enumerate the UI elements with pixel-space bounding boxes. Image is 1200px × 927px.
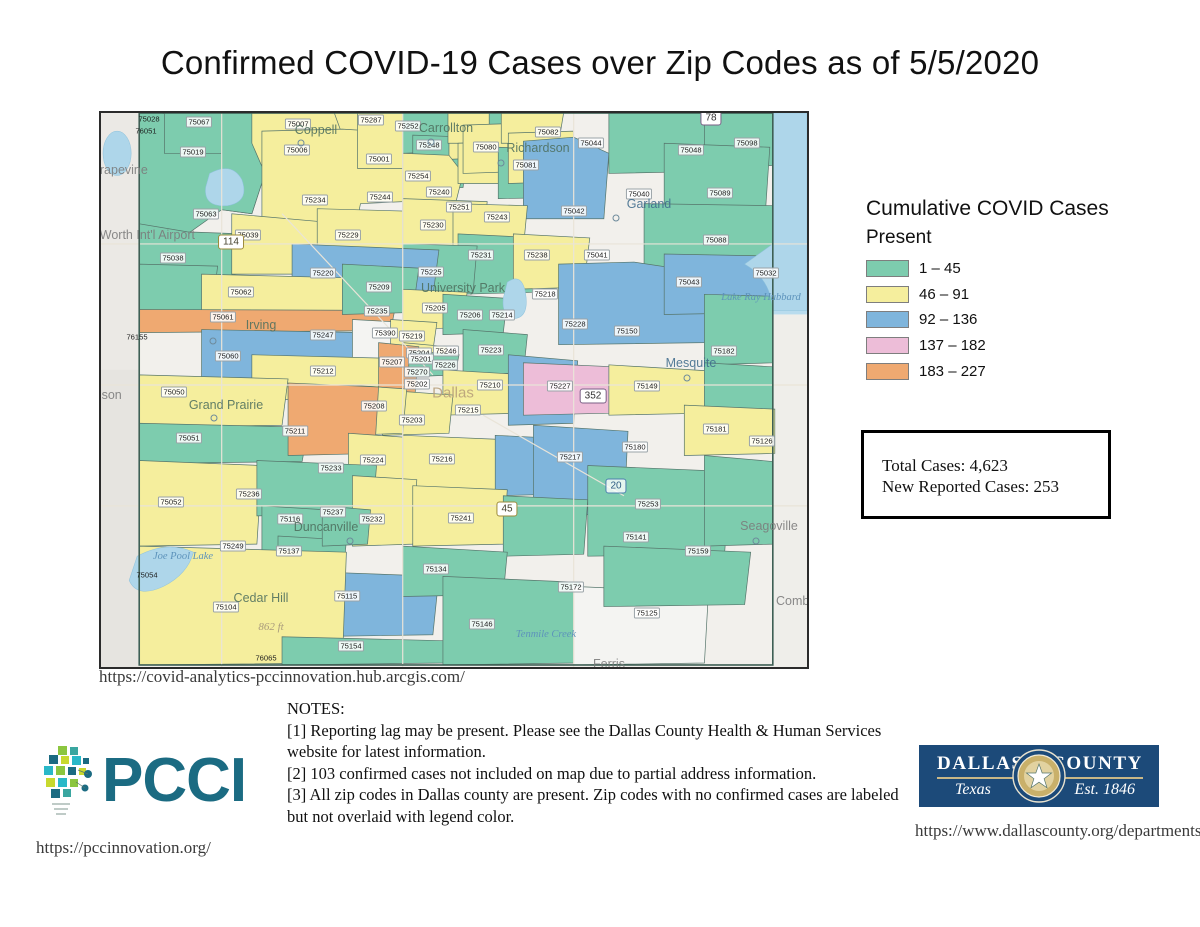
zip-code-label[interactable]: 75098	[734, 138, 760, 149]
zip-code-label[interactable]: 75032	[753, 268, 779, 279]
legend-range-label: 137 – 182	[919, 337, 986, 354]
zip-code-label[interactable]: 75208	[361, 401, 387, 412]
city-label: Duncanville	[294, 520, 359, 534]
new-reported-cases: New Reported Cases: 253	[882, 476, 1108, 497]
zip-code-label[interactable]: 75216	[429, 454, 455, 465]
zip-code-label[interactable]: 75006	[284, 145, 310, 156]
city-point-marker	[298, 140, 305, 147]
zip-code-label[interactable]: 75236	[236, 489, 262, 500]
highway-shield: 20	[605, 479, 626, 494]
city-point-marker	[210, 338, 217, 345]
zip-code-label[interactable]: 75054	[135, 571, 159, 580]
page-title: Confirmed COVID-19 Cases over Zip Codes …	[0, 44, 1200, 82]
zip-code-label[interactable]: 75134	[423, 564, 449, 575]
city-label: Richardson	[506, 141, 569, 155]
zip-code-label[interactable]: 75212	[310, 366, 336, 377]
legend-subtitle: Present	[866, 225, 1166, 251]
zip-code-label[interactable]: 75051	[176, 433, 202, 444]
notes-block: NOTES: [1] Reporting lag may be present.…	[287, 698, 902, 827]
city-label: University Park	[421, 281, 505, 295]
zip-code-label[interactable]: 75234	[302, 195, 328, 206]
choropleth-map[interactable]: .g{fill:#7DCCAE}.y{fill:#F5EE9D}.b{fill:…	[99, 111, 809, 669]
city-label: Mesquite	[666, 356, 717, 370]
zip-code-label[interactable]: 75244	[367, 192, 393, 203]
zip-code-label[interactable]: 75062	[228, 287, 254, 298]
zip-code-label[interactable]: 75246	[433, 346, 459, 357]
zip-code-label[interactable]: 75214	[489, 310, 515, 321]
zip-code-label[interactable]: 75251	[446, 202, 472, 213]
legend-range-label: 1 – 45	[919, 260, 961, 277]
city-label: Cedar Hill	[234, 591, 289, 605]
city-label: Grapevine	[99, 163, 148, 177]
total-cases: Total Cases: 4,623	[882, 455, 1108, 476]
note-1: [1] Reporting lag may be present. Please…	[287, 720, 902, 763]
zip-code-label[interactable]: 75041	[584, 250, 610, 261]
legend-swatch	[866, 337, 909, 354]
note-2: [2] 103 confirmed cases not included on …	[287, 763, 902, 785]
zip-code-label[interactable]: 75223	[478, 345, 504, 356]
city-point-marker	[498, 160, 505, 167]
dallas-county-url[interactable]: https://www.dallascounty.org/departments…	[915, 820, 1185, 842]
zip-code-label[interactable]: 75227	[547, 381, 573, 392]
zip-code-label[interactable]: 75209	[366, 282, 392, 293]
zip-code-label[interactable]: 75125	[634, 608, 660, 619]
highway-shield: 352	[580, 389, 607, 404]
zip-code-label[interactable]: 75226	[432, 360, 458, 371]
zip-code-label[interactable]: 75038	[160, 253, 186, 264]
legend-range-label: 92 – 136	[919, 311, 977, 328]
legend-item: 137 – 182	[866, 333, 1166, 359]
zip-code-label[interactable]: 75233	[318, 463, 344, 474]
water-body-label: Tenmile Creek	[516, 629, 576, 641]
legend-swatch	[866, 260, 909, 277]
zip-code-label[interactable]: 75219	[399, 331, 425, 342]
zip-code-label[interactable]: 75126	[749, 436, 775, 447]
zip-code-label[interactable]: 75215	[455, 405, 481, 416]
zip-code-label[interactable]: 75220	[310, 268, 336, 279]
pcci-wordmark: PCCI	[102, 750, 246, 812]
city-label: Grand Prairie	[189, 398, 263, 412]
zip-code-label[interactable]: 75211	[282, 426, 308, 437]
zip-code-label[interactable]: 75115	[334, 591, 360, 602]
dc-texas-text: Texas	[955, 781, 991, 799]
highway-shield: 45	[496, 502, 517, 517]
zip-code-label[interactable]: 75146	[469, 619, 495, 630]
zip-code-label[interactable]: 75042	[561, 206, 587, 217]
water-body-label: Lake Ray Hubbard	[721, 292, 801, 304]
city-label: Combine	[776, 594, 809, 608]
zip-code-label[interactable]: 75060	[215, 351, 241, 362]
zip-code-label[interactable]: 75228	[562, 319, 588, 330]
legend-items: 1 – 4546 – 9192 – 136137 – 182183 – 227	[866, 256, 1166, 384]
zip-code-label[interactable]: 75205	[422, 303, 448, 314]
zip-code-label[interactable]: 75159	[685, 546, 711, 557]
zip-code-label[interactable]: 75243	[484, 212, 510, 223]
dc-est-text: Est. 1846	[1075, 781, 1135, 799]
zip-code-label[interactable]: 75082	[535, 127, 561, 138]
zip-code-label[interactable]: 76065	[254, 654, 278, 663]
zip-code-label[interactable]: 75081	[513, 160, 539, 171]
city-point-marker	[428, 139, 435, 146]
zip-code-label[interactable]: 75172	[558, 582, 584, 593]
pcci-url[interactable]: https://pccinnovation.org/	[36, 838, 211, 858]
dc-dallas-text: DALLAS	[937, 753, 1024, 775]
zip-code-label[interactable]: 75237	[320, 507, 346, 518]
legend-swatch	[866, 363, 909, 380]
zip-code-label[interactable]: 75180	[622, 442, 648, 453]
zip-code-label[interactable]: 75217	[557, 452, 583, 463]
zip-code-label[interactable]: 75088	[703, 235, 729, 246]
zip-code-label[interactable]: 75141	[623, 532, 649, 543]
zip-code-label[interactable]: 75241	[448, 513, 474, 524]
legend-item: 1 – 45	[866, 256, 1166, 282]
zip-code-label[interactable]: 75240	[426, 187, 452, 198]
legend-swatch	[866, 286, 909, 303]
dc-rule-right	[1061, 777, 1143, 779]
zip-code-label[interactable]: 75254	[405, 171, 431, 182]
city-label: Seagoville	[740, 519, 798, 533]
zip-code-label[interactable]: 76155	[125, 333, 149, 342]
zip-code-label[interactable]: 75210	[477, 380, 503, 391]
zip-code-label[interactable]: 75229	[335, 230, 361, 241]
notes-heading: NOTES:	[287, 698, 902, 720]
city-label: Dallas	[432, 385, 474, 402]
zip-code-label[interactable]: 75080	[473, 142, 499, 153]
zip-code-label[interactable]: 75150	[614, 326, 640, 337]
zip-code-label[interactable]: 75063	[193, 209, 219, 220]
legend-range-label: 46 – 91	[919, 286, 969, 303]
legend-item: 183 – 227	[866, 358, 1166, 384]
legend-title: Cumulative COVID Cases	[866, 196, 1166, 222]
zip-code-label[interactable]: 75287	[358, 115, 384, 126]
zip-code-label[interactable]: 75252	[395, 121, 421, 132]
city-label: Carrollton	[419, 121, 473, 135]
zip-code-label[interactable]: 75061	[210, 312, 236, 323]
zip-code-label[interactable]: 75253	[635, 499, 661, 510]
legend-swatch	[866, 311, 909, 328]
city-point-marker	[684, 375, 691, 382]
zip-code-label[interactable]: 75182	[711, 346, 737, 357]
zip-code-label[interactable]: 75238	[524, 250, 550, 261]
zip-code-label[interactable]: 75207	[379, 357, 405, 368]
city-point-marker	[347, 538, 354, 545]
zip-code-label[interactable]: 75225	[418, 267, 444, 278]
zip-code-label[interactable]: 75231	[468, 250, 494, 261]
zip-code-label[interactable]: 75206	[457, 310, 483, 321]
zip-code-label[interactable]: 75390	[372, 328, 398, 339]
pcci-logo-block: PCCI	[38, 742, 278, 820]
zip-code-label[interactable]: 75247	[310, 330, 336, 341]
highway-shield: 114	[218, 235, 244, 250]
zip-code-label[interactable]: 75149	[634, 381, 660, 392]
city-label: Garland	[627, 197, 671, 211]
zip-code-label[interactable]: 75067	[186, 117, 212, 128]
city-label: Ferris	[593, 657, 625, 669]
dc-rule-left	[937, 777, 1019, 779]
zip-code-label[interactable]: 75050	[161, 387, 187, 398]
legend-item: 92 – 136	[866, 307, 1166, 333]
stats-box: Total Cases: 4,623 New Reported Cases: 2…	[861, 430, 1111, 519]
zip-code-label[interactable]: 75137	[276, 546, 302, 557]
city-point-marker	[753, 538, 760, 545]
zip-code-label[interactable]: 75218	[532, 289, 558, 300]
zip-code-label[interactable]: 75001	[366, 154, 392, 165]
zip-code-label[interactable]: 75052	[158, 497, 184, 508]
legend: Cumulative COVID Cases Present 1 – 4546 …	[866, 196, 1166, 384]
city-label: Dallas/Ft Worth Int'l Airport	[99, 228, 195, 242]
zip-code-label[interactable]: 75230	[420, 220, 446, 231]
note-3: [3] All zip codes in Dallas county are p…	[287, 784, 902, 827]
zip-code-label[interactable]: 75224	[360, 455, 386, 466]
map-source-url[interactable]: https://covid-analytics-pccinnovation.hu…	[99, 667, 465, 687]
zip-code-label[interactable]: 75203	[399, 415, 425, 426]
zip-code-label[interactable]: 75028	[137, 115, 161, 124]
zip-code-label[interactable]: 75249	[220, 541, 246, 552]
zip-code-label[interactable]: 75019	[180, 147, 206, 158]
zip-code-label[interactable]: 75235	[364, 306, 390, 317]
city-point-marker	[613, 215, 620, 222]
zip-code-label[interactable]: 75154	[338, 641, 364, 652]
city-label: Irving	[246, 318, 277, 332]
zip-code-label[interactable]: 75270	[404, 367, 430, 378]
water-body-label: Joe Pool Lake	[153, 551, 213, 563]
city-label: Coppell	[295, 123, 337, 137]
zip-code-label[interactable]: 75048	[678, 145, 704, 156]
zip-code-label[interactable]: 76051	[134, 127, 158, 136]
elevation-label: 862 ft	[258, 621, 283, 633]
pcci-lightbulb-icon	[38, 744, 100, 818]
zip-code-label[interactable]: 75201	[408, 354, 434, 365]
zip-code-label[interactable]: 75044	[578, 138, 604, 149]
zip-code-label[interactable]: 75202	[404, 379, 430, 390]
legend-item: 46 – 91	[866, 282, 1166, 308]
city-label: Wilson	[99, 388, 122, 402]
dallas-county-logo-block: DALLAS COUNTY Texas Est. 1846	[919, 745, 1159, 807]
legend-range-label: 183 – 227	[919, 363, 986, 380]
zip-code-label[interactable]: 75232	[359, 514, 385, 525]
zip-code-label[interactable]: 75181	[703, 424, 729, 435]
city-point-marker	[211, 415, 218, 422]
zip-code-label[interactable]: 75089	[707, 188, 733, 199]
dallas-county-seal-icon	[1012, 749, 1066, 803]
zip-code-label[interactable]: 75043	[676, 277, 702, 288]
highway-shield: 78	[700, 111, 721, 126]
